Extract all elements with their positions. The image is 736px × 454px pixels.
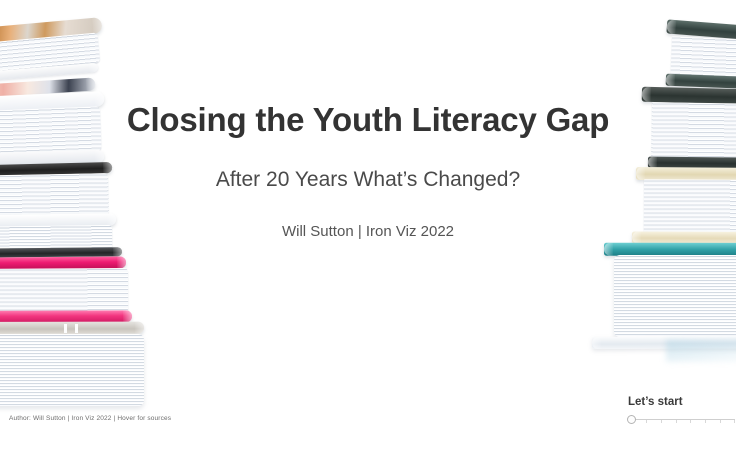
book-stack-right-image xyxy=(570,0,736,420)
book-pages-2 xyxy=(0,106,102,156)
book-pages-5 xyxy=(0,268,128,313)
book-stack-left-image xyxy=(0,0,214,420)
book-pages-r4 xyxy=(614,255,736,337)
book-pages-r3 xyxy=(644,179,736,234)
lets-start-label: Let’s start xyxy=(628,396,683,408)
lets-start-control[interactable]: Let’s start xyxy=(614,396,736,432)
book-cover-grey xyxy=(0,322,144,334)
book-pages-3 xyxy=(0,173,109,218)
book-pages-6 xyxy=(0,334,144,406)
book-haze xyxy=(666,340,736,362)
author-credit[interactable]: Author: Will Sutton | Iron Viz 2022 | Ho… xyxy=(9,415,171,422)
dashboard-canvas: Closing the Youth Literacy Gap After 20 … xyxy=(0,0,736,454)
progress-slider[interactable] xyxy=(625,415,736,427)
book-mark-1 xyxy=(64,324,67,333)
book-pages-r2 xyxy=(651,102,736,160)
slider-ticks xyxy=(631,420,735,424)
book-mark-2 xyxy=(75,324,78,333)
slider-handle[interactable] xyxy=(627,415,636,424)
book-cover-teal xyxy=(604,243,736,256)
